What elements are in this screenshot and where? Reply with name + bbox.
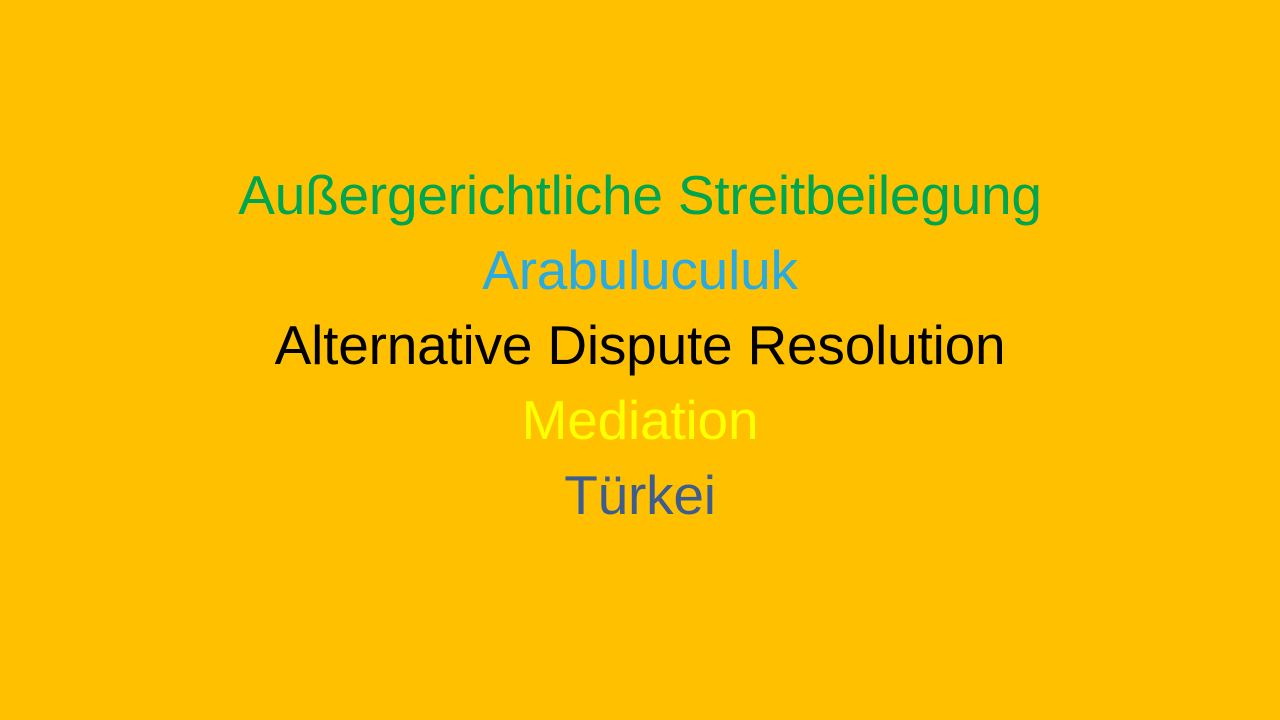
title-line-german: Außergerichtliche Streitbeilegung — [50, 158, 1230, 233]
title-line-mediation: Mediation — [50, 383, 1230, 458]
title-line-english: Alternative Dispute Resolution — [50, 308, 1230, 383]
title-line-country: Türkei — [50, 458, 1230, 533]
title-line-turkish: Arabuluculuk — [50, 233, 1230, 308]
slide-canvas: Außergerichtliche Streitbeilegung Arabul… — [0, 0, 1280, 720]
title-block: Außergerichtliche Streitbeilegung Arabul… — [50, 158, 1230, 533]
